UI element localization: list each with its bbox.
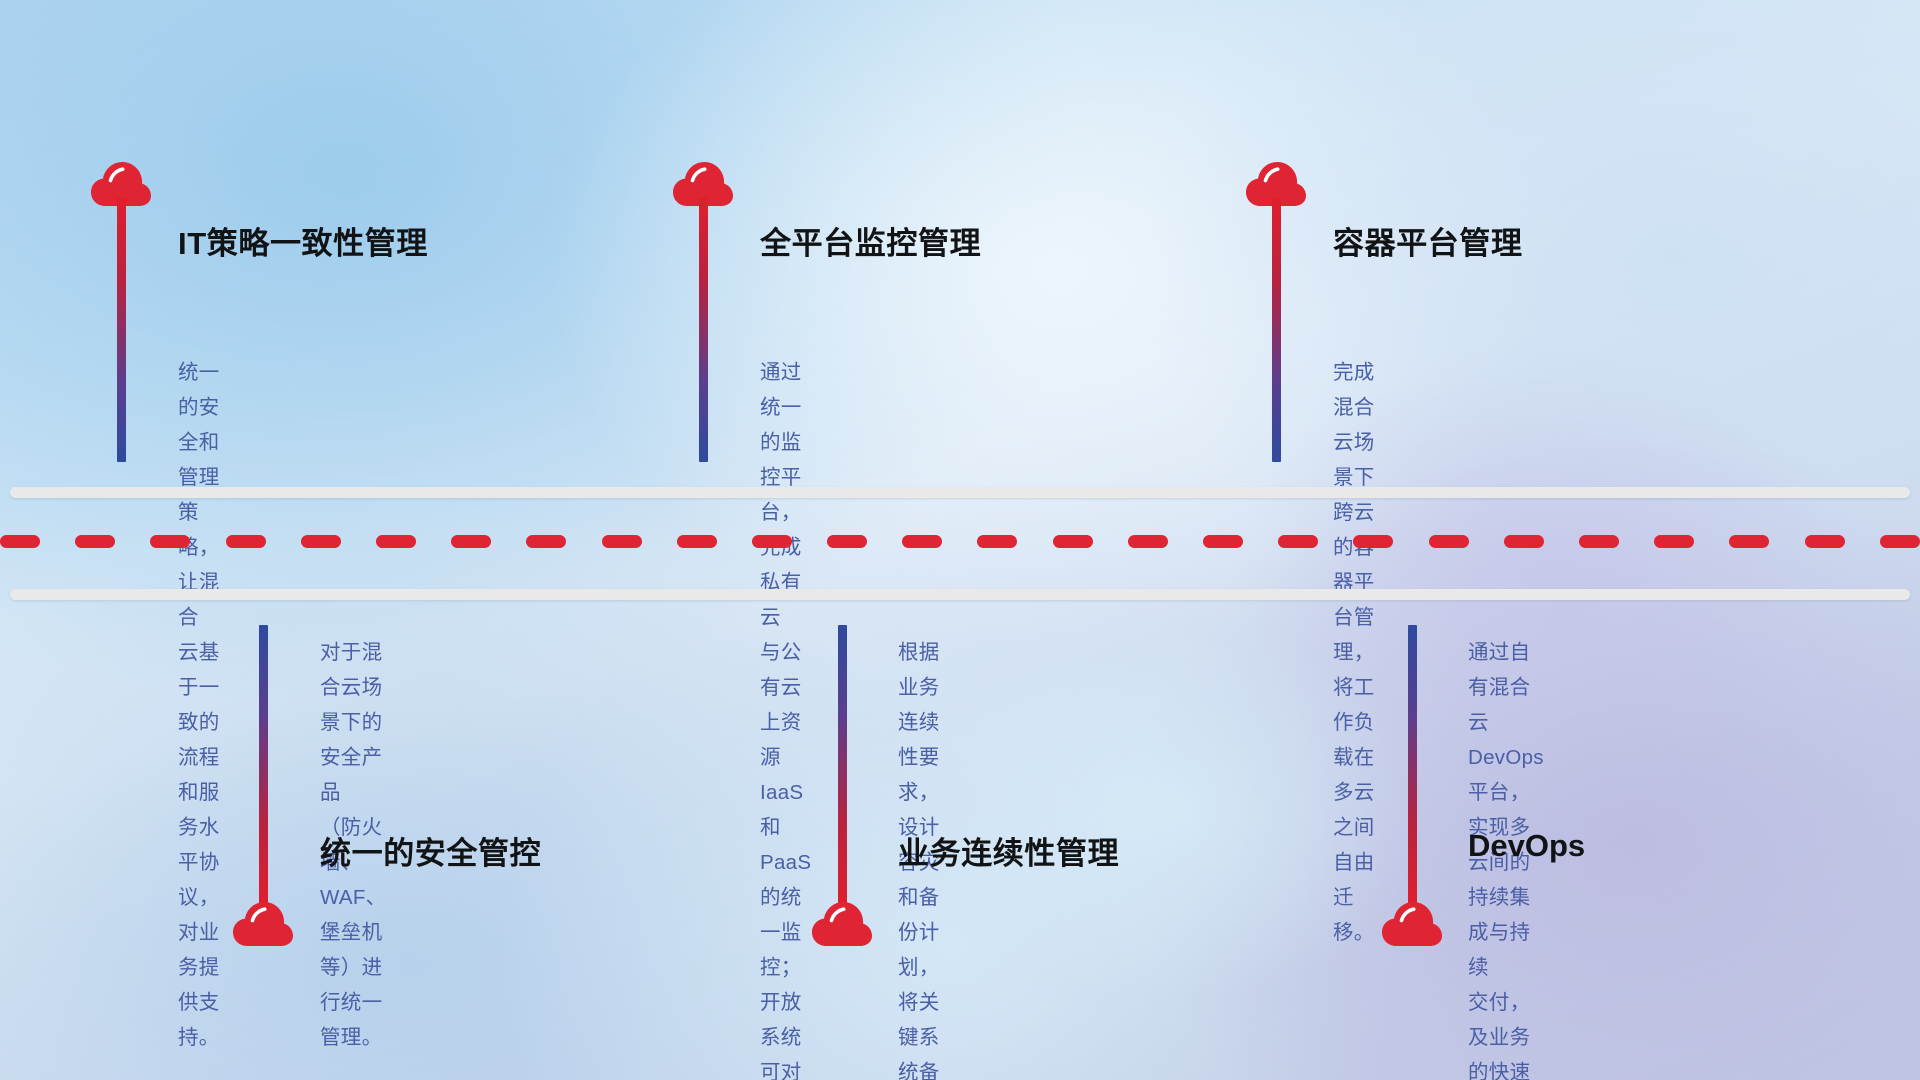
bottom-heading-2: 业务连续性管理: [898, 828, 1119, 873]
road-dash-segment: [0, 535, 40, 548]
road-dash-segment: [752, 535, 792, 548]
road-dash-segment: [526, 535, 566, 548]
stem-line: [1408, 625, 1417, 905]
top-heading-2: 全平台监控管理: [760, 218, 981, 263]
cloud-marker-icon: [1381, 895, 1443, 947]
stem-line: [259, 625, 268, 905]
top-heading-3: 容器平台管理: [1333, 218, 1523, 263]
stem-line: [838, 625, 847, 905]
road-dash-segment: [677, 535, 717, 548]
road-rail-top: [10, 487, 1910, 498]
road-dash-segment: [1880, 535, 1920, 548]
road-dash-segment: [1805, 535, 1845, 548]
infographic-canvas: IT策略一致性管理 统一的安全和管理策略，让混合 云基于一致的流程和服务水平协 …: [0, 0, 1920, 1080]
top-body-1: 统一的安全和管理策略，让混合 云基于一致的流程和服务水平协 议，对业务提供支持。: [178, 355, 220, 1055]
road-dash-segment: [977, 535, 1017, 548]
bottom-heading-3: DevOps: [1468, 828, 1585, 864]
top-body-3: 完成混合云场景下跨云的容器平 台管理，将工作负载在多云之间 自由迁移。: [1333, 355, 1375, 950]
road-dash-segment: [1128, 535, 1168, 548]
stem-line: [1272, 198, 1281, 462]
road-dash-segment: [1429, 535, 1469, 548]
top-heading-1: IT策略一致性管理: [178, 218, 428, 263]
road-dash-segment: [1353, 535, 1393, 548]
road-dash-segment: [827, 535, 867, 548]
road-dash-segment: [1504, 535, 1544, 548]
road-dash-segment: [301, 535, 341, 548]
road-dash-segment: [602, 535, 642, 548]
road-dash-segment: [226, 535, 266, 548]
road-dash-segment: [75, 535, 115, 548]
road-dash-segment: [376, 535, 416, 548]
road-dash-segment: [150, 535, 190, 548]
road-dashed-centerline: [0, 535, 1920, 548]
road-dash-segment: [1729, 535, 1769, 548]
cloud-marker-icon: [811, 895, 873, 947]
stem-line: [699, 198, 708, 462]
road-dash-segment: [451, 535, 491, 548]
top-body-2: 通过统一的监控平台，完成私有云 与公有云上资源IaaS和PaaS的统 一监控；开…: [760, 355, 811, 1080]
road-dash-segment: [1654, 535, 1694, 548]
road-dash-segment: [1278, 535, 1318, 548]
road-dash-segment: [902, 535, 942, 548]
bottom-heading-1: 统一的安全管控: [320, 828, 541, 873]
road-dash-segment: [1053, 535, 1093, 548]
road-dash-segment: [1579, 535, 1619, 548]
road-rail-bottom: [10, 589, 1910, 600]
stem-line: [117, 198, 126, 462]
cloud-marker-icon: [232, 895, 294, 947]
road-divider: [0, 487, 1920, 607]
road-dash-segment: [1203, 535, 1243, 548]
